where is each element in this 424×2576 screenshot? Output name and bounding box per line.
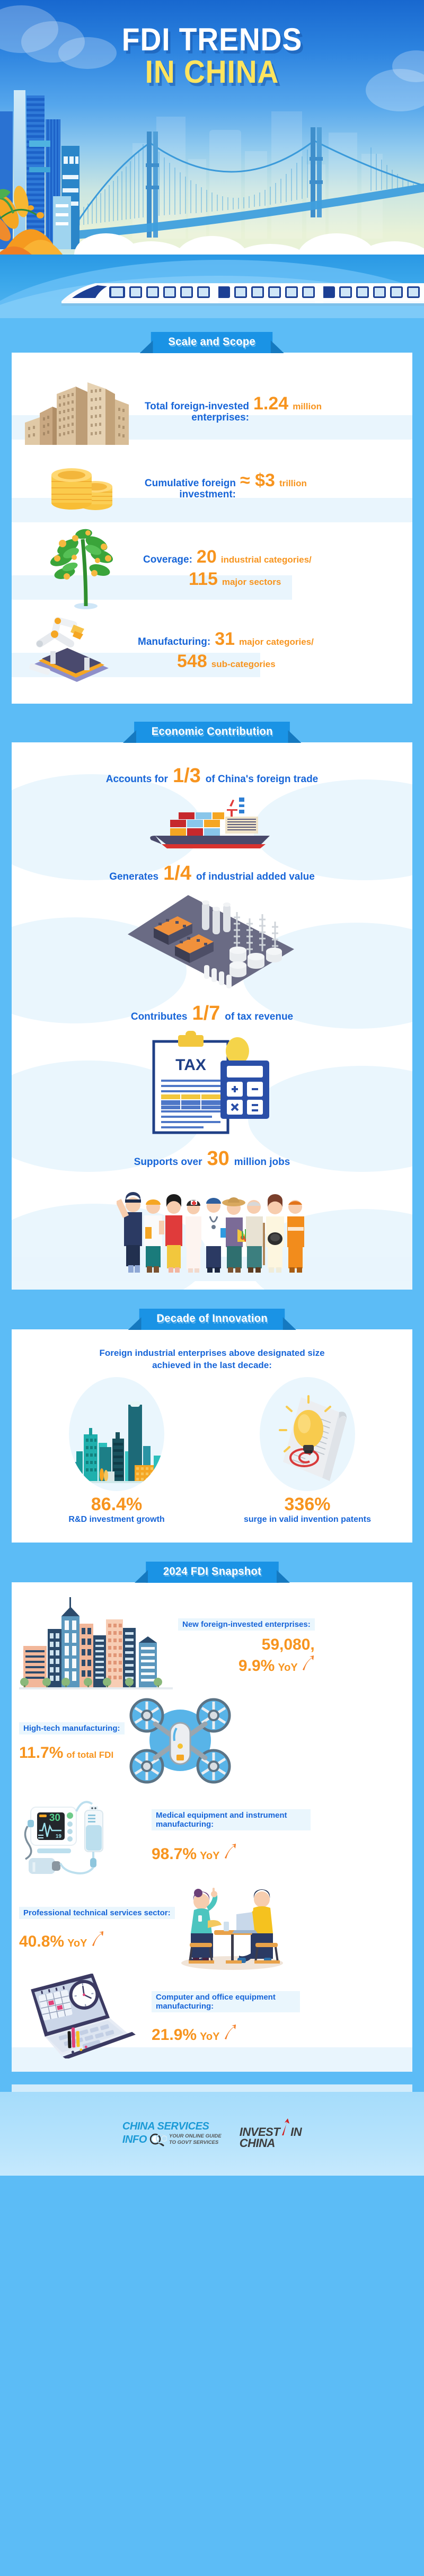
stat-unit: trillion	[279, 478, 307, 489]
snapshot-value: 59,080,	[178, 1637, 315, 1653]
laptop-calendar-clock-icon	[19, 1974, 152, 2061]
card-economic-contribution: Accounts for 1/3 of China's foreign trad…	[12, 742, 412, 1290]
invest-in-china-logo[interactable]: INVEST IN CHINA	[240, 2118, 302, 2149]
logo-tagline-line2: TO GOVT SERVICES	[169, 2140, 222, 2146]
stat-value: 20	[197, 548, 217, 566]
snapshot-value-wrap: 98.7% YoY	[152, 1843, 311, 1862]
snapshot-row: 30 19	[19, 1788, 405, 1883]
innovation-value: 86.4%	[21, 1494, 212, 1515]
snapshot-text: Professional technical services sector: …	[19, 1907, 175, 1950]
contribution-row: Accounts for 1/3 of China's foreign trad…	[21, 764, 403, 786]
contribution-value: 30	[207, 1149, 229, 1169]
stat-label: Manufacturing:	[138, 636, 210, 647]
stat-value-secondary: 115	[189, 570, 218, 588]
plant-growth-icon	[21, 525, 143, 610]
logo2-line2: CHINA	[240, 2137, 275, 2149]
innovation-stat: 86.4% R&D investment growth	[21, 1377, 212, 1524]
lightbulb-patent-icon	[260, 1377, 355, 1491]
modern-skyscrapers-icon	[19, 1597, 178, 1695]
high-speed-train-illustration	[58, 280, 424, 310]
industrial-plant-icon	[21, 891, 403, 992]
section-banner-decade-of-innovation: Decade of Innovation	[139, 1309, 285, 1330]
logo2-in: IN	[290, 2126, 302, 2138]
stat-row: Total foreign-invested enterprises: 1.24…	[21, 372, 403, 446]
stat-row: Coverage: 20 industrial categories/ 115 …	[21, 525, 403, 610]
snapshot-value: 40.8%	[19, 1934, 64, 1950]
stat-value: 1.24	[253, 395, 288, 413]
contribution-row: Supports over 30 million jobs	[21, 1149, 403, 1169]
china-services-info-logo[interactable]: CHINA SERVICES INFO YOUR ONLINE GUIDE TO…	[122, 2121, 222, 2146]
innovation-heading: Foreign industrial enterprises above des…	[21, 1347, 403, 1372]
up-trend-arrow-icon	[223, 2024, 237, 2040]
snapshot-label: New foreign-invested enterprises:	[178, 1618, 315, 1631]
diverse-workers-group-icon	[21, 1176, 403, 1277]
card-scale-and-scope: Total foreign-invested enterprises: 1.24…	[12, 353, 412, 704]
magnifier-icon	[149, 2133, 167, 2146]
banner-row: Scale and Scope	[12, 332, 412, 353]
hero-title-line2: IN CHINA	[17, 56, 407, 89]
contribution-prefix: Supports over	[134, 1156, 202, 1168]
snapshot-text: Medical equipment and instrument manufac…	[152, 1809, 311, 1862]
stat-unit: industrial categories/	[221, 555, 312, 565]
red-rising-arrow-icon	[280, 2118, 290, 2136]
stat-row: Manufacturing: 31 major categories/ 548 …	[21, 610, 403, 690]
innovation-caption: R&D investment growth	[21, 1515, 212, 1524]
hero-banner: FDI TRENDS IN CHINA	[0, 0, 424, 318]
snapshot-value: 98.7%	[152, 1846, 197, 1862]
logo-line1: CHINA SERVICES	[122, 2121, 222, 2132]
stat-unit: major categories/	[239, 637, 314, 647]
medical-monitor-icon: 30 19	[19, 1788, 152, 1883]
section-fdi-snapshot-2024: 2024 FDI Snapshot	[0, 1562, 424, 2072]
up-trend-arrow-icon	[91, 1931, 104, 1947]
contribution-suffix: of tax revenue	[225, 1011, 293, 1022]
innovation-caption: surge in valid invention patents	[212, 1515, 403, 1524]
banner-row: Decade of Innovation	[12, 1309, 412, 1330]
stat-value: 31	[215, 630, 235, 648]
snapshot-row: New foreign-invested enterprises: 59,080…	[19, 1597, 405, 1695]
contribution-suffix: million jobs	[234, 1156, 290, 1168]
stat-text: Total foreign-invested enterprises: 1.24…	[143, 395, 403, 424]
innovation-heading-line1: Foreign industrial enterprises above des…	[21, 1347, 403, 1360]
stat-value: ≈ $3	[240, 471, 275, 489]
robot-arm-icon	[21, 613, 138, 687]
stat-unit-secondary: major sectors	[222, 577, 281, 588]
snapshot-label: Professional technical services sector:	[19, 1907, 175, 1919]
contribution-suffix: of China's foreign trade	[206, 774, 318, 785]
contribution-suffix: of industrial added value	[196, 871, 315, 882]
innovation-stat: 336% surge in valid invention patents	[212, 1377, 403, 1524]
logo-line2: INFO	[122, 2134, 147, 2145]
section-scale-and-scope: Scale and Scope	[0, 332, 424, 704]
stat-label: Total foreign-invested enterprises:	[143, 401, 249, 424]
hero-title: FDI TRENDS IN CHINA	[0, 23, 424, 89]
section-banner-scale-and-scope: Scale and Scope	[151, 332, 273, 353]
snapshot-label: Computer and office equipment manufactur…	[152, 1991, 300, 2012]
snapshot-yoy-label: YoY	[200, 1850, 219, 1862]
stat-text: Coverage: 20 industrial categories/ 115 …	[143, 548, 403, 588]
innovation-stats-grid: 86.4% R&D investment growth	[21, 1377, 403, 1524]
snapshot-label: Medical equipment and instrument manufac…	[152, 1809, 311, 1830]
contribution-prefix: Contributes	[131, 1011, 188, 1022]
city-skyline-teal-icon	[69, 1377, 164, 1491]
stat-label: Coverage:	[143, 554, 192, 565]
contribution-prefix: Accounts for	[106, 774, 168, 785]
infographic-page: FDI TRENDS IN CHINA Scale and Scope	[0, 0, 424, 2176]
snapshot-row: Professional technical services sector: …	[19, 1883, 405, 1974]
svg-text:TAX: TAX	[175, 1056, 206, 1074]
section-economic-contribution: Economic Contribution Accounts for 1/3 o…	[0, 722, 424, 1290]
cargo-ship-icon	[21, 793, 403, 852]
two-people-at-table-icon	[175, 1883, 297, 1974]
contribution-row: Generates 1/4 of industrial added value	[21, 863, 403, 883]
snapshot-yoy-label: YoY	[278, 1662, 297, 1674]
snapshot-value-secondary: 9.9%	[238, 1658, 275, 1674]
logo-tagline: YOUR ONLINE GUIDE TO GOVT SERVICES	[169, 2133, 222, 2146]
stat-text: Cumulative foreign investment: ≈ $3 tril…	[143, 471, 403, 501]
snapshot-suffix: of total FDI	[66, 1750, 113, 1760]
up-trend-arrow-icon	[301, 1655, 315, 1671]
snapshot-text: High-tech manufacturing: 11.7% of total …	[19, 1722, 125, 1761]
banner-row: 2024 FDI Snapshot	[12, 1562, 412, 1583]
stat-row: Cumulative foreign investment: ≈ $3 tril…	[21, 446, 403, 525]
snapshot-yoy-label: YoY	[67, 1938, 87, 1950]
office-buildings-icon	[21, 372, 143, 446]
innovation-heading-line2: achieved in the last decade:	[21, 1360, 403, 1372]
up-trend-arrow-icon	[223, 1843, 237, 1859]
snapshot-value-yoy: 9.9% YoY	[178, 1655, 315, 1674]
stat-value-secondary: 548	[177, 652, 207, 670]
snapshot-row: High-tech manufacturing: 11.7% of total …	[19, 1695, 405, 1788]
drone-icon	[125, 1695, 246, 1788]
svg-text:19: 19	[56, 1834, 62, 1839]
footer: CHINA SERVICES INFO YOUR ONLINE GUIDE TO…	[0, 2092, 424, 2176]
contribution-value: 1/3	[173, 766, 201, 786]
snapshot-text: New foreign-invested enterprises: 59,080…	[178, 1618, 315, 1674]
snapshot-value-wrap: 11.7% of total FDI	[19, 1745, 125, 1761]
contribution-prefix: Generates	[109, 871, 158, 882]
stat-label: Cumulative foreign investment:	[143, 478, 236, 501]
card-fdi-snapshot-2024: New foreign-invested enterprises: 59,080…	[12, 1582, 412, 2072]
svg-text:30: 30	[49, 1812, 60, 1824]
snapshot-value: 21.9%	[152, 2027, 197, 2043]
contribution-value: 1/7	[192, 1003, 220, 1023]
contribution-value: 1/4	[163, 863, 191, 883]
stat-unit-secondary: sub-categories	[211, 659, 276, 670]
snapshot-value: 11.7%	[19, 1745, 63, 1761]
innovation-value: 336%	[212, 1494, 403, 1515]
section-banner-economic-contribution: Economic Contribution	[134, 722, 290, 743]
contribution-row: Contributes 1/7 of tax revenue	[21, 1003, 403, 1023]
stat-text: Manufacturing: 31 major categories/ 548 …	[138, 630, 403, 670]
section-banner-fdi-snapshot: 2024 FDI Snapshot	[146, 1562, 279, 1583]
footer-separator	[12, 2084, 412, 2092]
logo-tagline-line1: YOUR ONLINE GUIDE	[169, 2133, 222, 2140]
snapshot-value-wrap: 40.8% YoY	[19, 1931, 175, 1950]
gold-coins-icon	[21, 454, 143, 518]
snapshot-value-wrap: 21.9% YoY	[152, 2024, 300, 2043]
card-decade-of-innovation: Foreign industrial enterprises above des…	[12, 1329, 412, 1543]
hero-title-line1: FDI TRENDS	[17, 23, 407, 56]
snapshot-row: Computer and office equipment manufactur…	[19, 1974, 405, 2061]
snapshot-text: Computer and office equipment manufactur…	[152, 1991, 300, 2043]
snapshot-label: High-tech manufacturing:	[19, 1722, 125, 1734]
stat-unit: million	[293, 401, 322, 412]
snapshot-yoy-label: YoY	[200, 2031, 219, 2043]
banner-row: Economic Contribution	[12, 722, 412, 743]
tax-clipboard-calculator-icon: TAX	[21, 1031, 403, 1137]
section-decade-of-innovation: Decade of Innovation Foreign industrial …	[0, 1309, 424, 1543]
